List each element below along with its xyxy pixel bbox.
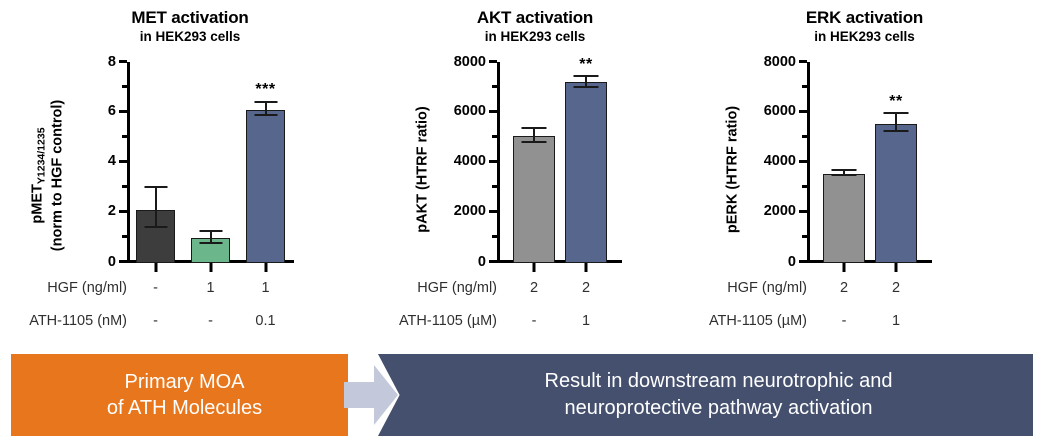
errorbar-met-1-line [155, 188, 157, 228]
y-tick-label-6000: 6000 [764, 103, 796, 119]
condition-label: HGF (ng/ml) [417, 277, 497, 299]
y-tick-minor-5000 [802, 135, 807, 138]
y-tick-2 [119, 210, 127, 213]
y-axis-line [807, 62, 810, 263]
right-arrow-icon [344, 362, 398, 428]
panel-title-sub: in HEK293 cells [690, 28, 1039, 45]
panel-title-sub: in HEK293 cells [380, 28, 690, 45]
y-tick-label-4000: 4000 [454, 153, 486, 169]
condition-value: - [153, 277, 158, 299]
x-tick-met-3 [264, 263, 267, 272]
condition-row-hgf-met: HGF (ng/ml) - 1 1 [127, 277, 294, 299]
errorbar-erk-1-cap-top [832, 169, 857, 171]
errorbar-akt-2-cap-bottom [574, 86, 599, 88]
x-tick-met-1 [154, 263, 157, 272]
y-tick-minor-7000 [492, 85, 497, 88]
condition-value: 0.1 [255, 310, 275, 332]
errorbar-akt-1-cap-bottom [522, 141, 547, 143]
condition-row-ath1105-erk: ATH-1105 (µM) - 1 [807, 310, 932, 332]
errorbar-erk-2-cap-bottom [884, 130, 909, 132]
banner-right-line-2: neuroprotective pathway activation [545, 395, 893, 422]
bar-akt-2 [565, 82, 607, 263]
panel-erk-activation: ERK activation in HEK293 cells pERK (HTR… [690, 0, 1039, 345]
y-axis-label-erk: pERK (HTRF ratio) [724, 65, 743, 275]
y-tick-label-8000: 8000 [454, 54, 486, 70]
condition-value: 2 [840, 277, 848, 299]
condition-value: - [153, 310, 158, 332]
plot-area-met: 0 2 4 6 8 *** [127, 62, 294, 263]
significance-met-3: *** [255, 81, 275, 99]
y-tick-8000 [489, 60, 497, 63]
banner-downstream-result: Result in downstream neurotrophic and ne… [378, 354, 1033, 436]
y-tick-4 [119, 160, 127, 163]
panel-title-sub: in HEK293 cells [0, 28, 380, 45]
condition-row-hgf-erk: HGF (ng/ml) 2 2 [807, 277, 932, 299]
x-tick-akt-2 [585, 263, 588, 272]
significance-erk-2: ** [889, 93, 902, 111]
y-tick-label-4: 4 [108, 153, 116, 169]
panel-title-main: ERK activation [690, 8, 1039, 28]
condition-row-ath1105-akt: ATH-1105 (µM) - 1 [497, 310, 622, 332]
errorbar-erk-2-cap-top [884, 112, 909, 114]
banner-left-line-2: of ATH Molecules [107, 395, 262, 421]
bar-akt-1 [513, 136, 555, 263]
y-tick-6000 [799, 110, 807, 113]
condition-label: HGF (ng/ml) [47, 277, 127, 299]
x-tick-akt-1 [533, 263, 536, 272]
condition-value: - [532, 310, 537, 332]
x-tick-erk-1 [843, 263, 846, 272]
y-tick-label-0: 0 [108, 254, 116, 270]
condition-label: HGF (ng/ml) [727, 277, 807, 299]
y-tick-label-0: 0 [478, 254, 486, 270]
y-tick-6000 [489, 110, 497, 113]
y-tick-minor-3000 [492, 185, 497, 188]
errorbar-met-1-cap-top [144, 186, 167, 188]
y-axis-label-akt: pAKT (HTRF ratio) [414, 65, 433, 275]
y-tick-label-2000: 2000 [764, 203, 796, 219]
y-tick-label-6000: 6000 [454, 103, 486, 119]
condition-value: 1 [582, 310, 590, 332]
y-tick-2000 [489, 210, 497, 213]
y-tick-minor-3 [122, 185, 127, 188]
condition-value: 1 [261, 277, 269, 299]
plot-area-akt: 0 2000 4000 6000 8000 ** [497, 62, 622, 263]
condition-row-hgf-akt: HGF (ng/ml) 2 2 [497, 277, 622, 299]
banner-primary-moa: Primary MOA of ATH Molecules [11, 354, 348, 436]
condition-value: - [208, 310, 213, 332]
condition-label: ATH-1105 (µM) [399, 310, 497, 332]
y-tick-0 [119, 260, 127, 263]
panel-title-main: AKT activation [380, 8, 690, 28]
y-tick-minor-5000 [492, 135, 497, 138]
errorbar-akt-1-cap-top [522, 127, 547, 129]
banner-right-line-1: Result in downstream neurotrophic and [545, 368, 893, 395]
condition-value: 1 [206, 277, 214, 299]
plot-area-erk: 0 2000 4000 6000 8000 ** [807, 62, 932, 263]
y-axis-label-met: pMETY1234/1235(norm to HGF control) [29, 76, 68, 276]
errorbar-akt-2-cap-top [574, 75, 599, 77]
condition-value: 2 [892, 277, 900, 299]
y-tick-label-0: 0 [788, 254, 796, 270]
y-tick-label-2: 2 [108, 203, 116, 219]
panel-title-akt: AKT activation in HEK293 cells [380, 8, 690, 45]
y-tick-8 [119, 60, 127, 63]
condition-label: ATH-1105 (nM) [29, 310, 127, 332]
errorbar-met-3-cap-top [254, 101, 277, 103]
y-tick-8000 [799, 60, 807, 63]
banner-left-line-1: Primary MOA [107, 369, 262, 395]
x-tick-met-2 [209, 263, 212, 272]
y-axis-line [127, 62, 130, 263]
x-tick-erk-2 [895, 263, 898, 272]
y-tick-minor-3000 [802, 185, 807, 188]
errorbar-met-3-cap-bottom [254, 114, 277, 116]
bar-met-3 [246, 110, 285, 263]
y-tick-label-8000: 8000 [764, 54, 796, 70]
panel-title-main: MET activation [0, 8, 380, 28]
y-tick-4000 [799, 160, 807, 163]
errorbar-met-2-cap-bottom [199, 242, 222, 244]
panel-title-erk: ERK activation in HEK293 cells [690, 8, 1039, 45]
y-tick-0 [489, 260, 497, 263]
condition-value: - [842, 310, 847, 332]
y-tick-6 [119, 110, 127, 113]
significance-akt-2: ** [579, 56, 592, 74]
y-tick-minor-7 [122, 85, 127, 88]
condition-value: 1 [892, 310, 900, 332]
y-tick-label-6: 6 [108, 103, 116, 119]
condition-label: ATH-1105 (µM) [709, 310, 807, 332]
errorbar-erk-1-cap-bottom [832, 174, 857, 176]
panel-title-met: MET activation in HEK293 cells [0, 8, 380, 45]
y-tick-minor-1 [122, 235, 127, 238]
errorbar-met-1-cap-bottom [144, 226, 167, 228]
y-tick-4000 [489, 160, 497, 163]
y-tick-label-8: 8 [108, 54, 116, 70]
figure-root: MET activation in HEK293 cells pMETY1234… [0, 0, 1039, 438]
y-tick-label-2000: 2000 [454, 203, 486, 219]
errorbar-met-2-cap-top [199, 230, 222, 232]
condition-value: 2 [582, 277, 590, 299]
bar-erk-2 [875, 124, 917, 264]
y-tick-0 [799, 260, 807, 263]
panel-akt-activation: AKT activation in HEK293 cells pAKT (HTR… [380, 0, 690, 345]
condition-row-ath1105-met: ATH-1105 (nM) - - 0.1 [127, 310, 294, 332]
y-tick-label-4000: 4000 [764, 153, 796, 169]
y-tick-minor-7000 [802, 85, 807, 88]
condition-value: 2 [530, 277, 538, 299]
y-axis-line [497, 62, 500, 263]
panel-met-activation: MET activation in HEK293 cells pMETY1234… [0, 0, 380, 345]
y-tick-minor-5 [122, 135, 127, 138]
bar-erk-1 [823, 174, 865, 263]
y-tick-2000 [799, 210, 807, 213]
y-tick-minor-1000 [802, 235, 807, 238]
y-tick-minor-1000 [492, 235, 497, 238]
